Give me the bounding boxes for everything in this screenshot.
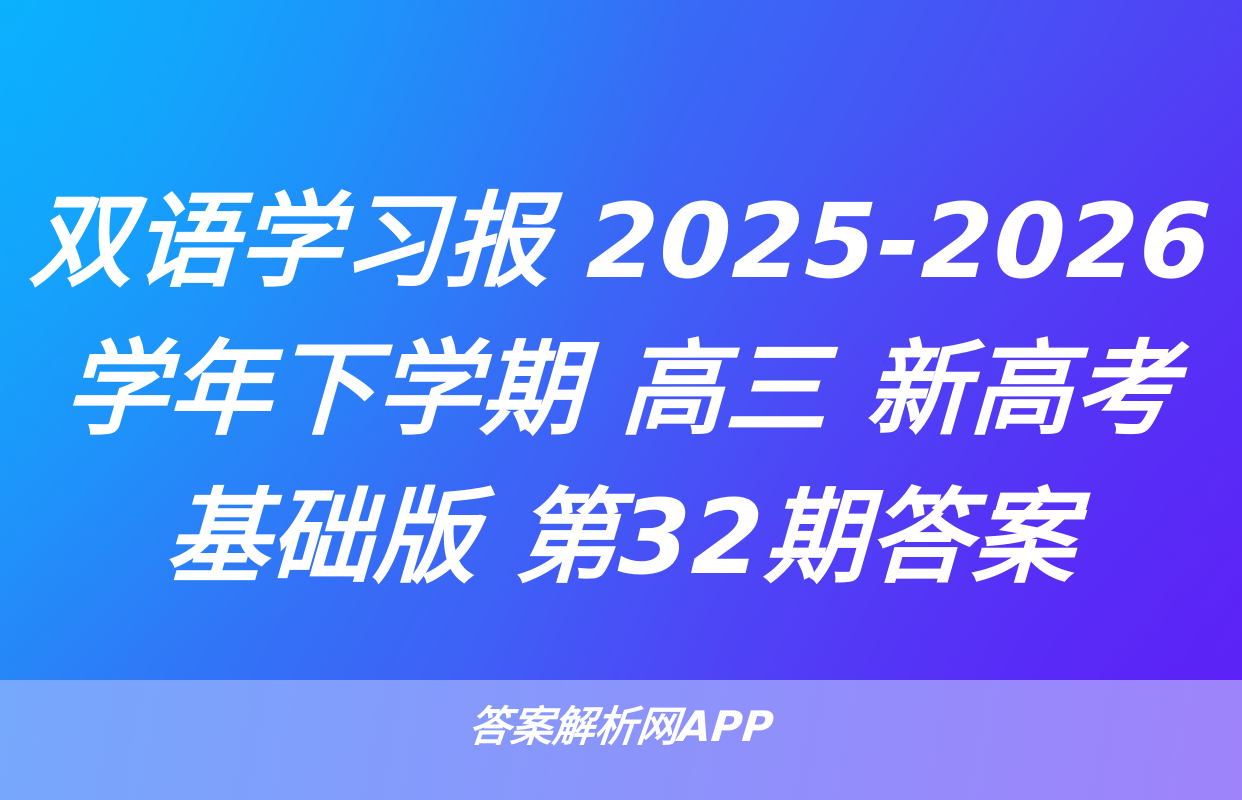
page-title: 双语学习报 2025-2026 学年下学期 高三 新高考 基础版 第32期答案 [0,168,1242,612]
cover-banner: 双语学习报 2025-2026 学年下学期 高三 新高考 基础版 第32期答案 … [0,0,1242,800]
title-line-2: 学年下学期 高三 新高考 [21,316,1220,464]
title-line-3: 基础版 第32期答案 [21,464,1220,612]
title-line-1: 双语学习报 2025-2026 [21,168,1220,316]
footer-watermark-band: 答案解析网APP [0,680,1242,800]
app-watermark-label: 答案解析网APP [466,702,775,752]
